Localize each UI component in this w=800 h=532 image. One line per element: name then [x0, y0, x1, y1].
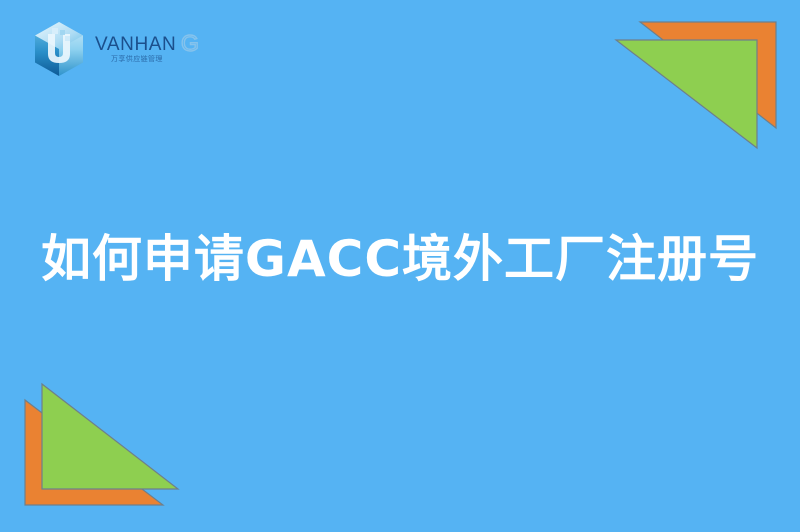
title-container: 如何申请GACC境外工厂注册号	[0, 216, 800, 302]
vanhang-wordmark-icon: VANHAN G 万享供应链管理	[95, 29, 213, 69]
green-triangle-bottom-left	[42, 384, 178, 489]
vanhang-cube-logo-icon	[32, 20, 86, 78]
brand-logo[interactable]: VANHAN G 万享供应链管理	[32, 20, 213, 78]
slide-canvas: VANHAN G 万享供应链管理 如何申请GACC境外工厂注册号	[0, 0, 800, 532]
page-title: 如何申请GACC境外工厂注册号	[41, 233, 759, 286]
orange-triangle-top-right	[640, 22, 776, 128]
svg-text:万享供应链管理: 万享供应链管理	[111, 54, 163, 63]
brand-wordmark: VANHAN G 万享供应链管理	[95, 29, 213, 69]
svg-text:G: G	[181, 30, 199, 56]
orange-triangle-bottom-left	[25, 400, 163, 505]
green-triangle-top-right	[616, 40, 757, 148]
svg-text:VANHAN: VANHAN	[95, 34, 176, 55]
